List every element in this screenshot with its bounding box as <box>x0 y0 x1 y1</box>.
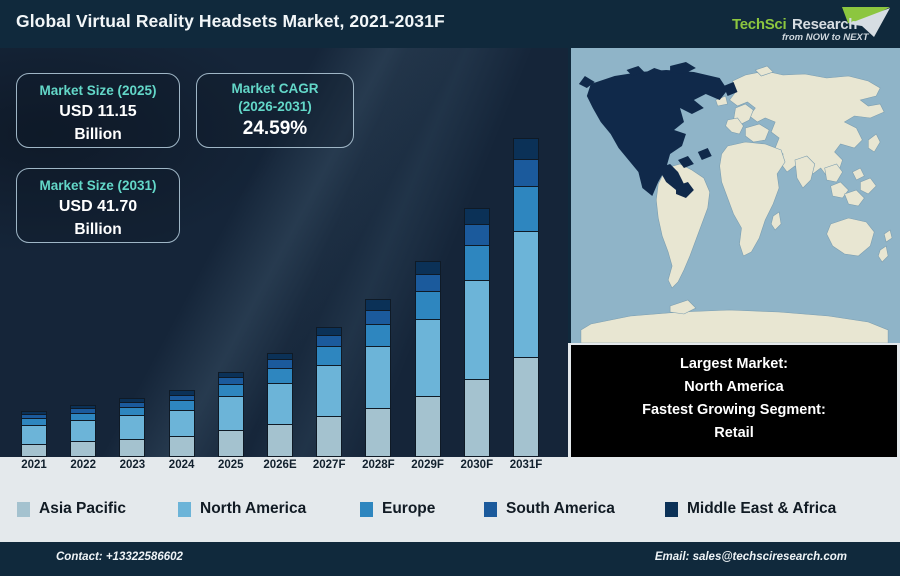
infographic-page: Global Virtual Reality Headsets Market, … <box>0 0 900 576</box>
bar-2029F <box>415 261 441 457</box>
segment-north-america-2022 <box>70 420 96 441</box>
segment-europe-2030F <box>464 245 490 281</box>
largest-market-value: North America <box>571 376 897 399</box>
segment-europe-2028F <box>365 324 391 347</box>
svg-text:TechSci: TechSci <box>732 16 786 33</box>
footer-contact[interactable]: Contact: +13322586602 <box>56 551 183 563</box>
segment-europe-2024 <box>169 400 195 410</box>
bar-2025 <box>218 372 244 457</box>
footer-bar: Contact: +13322586602 Email: sales@techs… <box>0 542 900 576</box>
x-tick-2030F: 2030F <box>453 459 501 471</box>
bar-2023 <box>119 398 145 457</box>
segment-north-america-2027F <box>316 365 342 416</box>
largest-market-label: Largest Market: <box>571 353 897 376</box>
segment-north-america-2026E <box>267 383 293 424</box>
legend-swatch-icon <box>665 502 678 517</box>
logo-icon: TechSci Research from NOW to NEXT <box>724 3 894 45</box>
page-title: Global Virtual Reality Headsets Market, … <box>16 11 445 32</box>
segment-europe-2023 <box>119 407 145 415</box>
footer-email[interactable]: Email: sales@techsciresearch.com <box>655 551 847 563</box>
segment-north-america-2030F <box>464 280 490 379</box>
segment-north-america-2025 <box>218 396 244 430</box>
segment-north-america-2029F <box>415 319 441 396</box>
bar-2030F <box>464 208 490 457</box>
x-tick-2023: 2023 <box>108 459 156 471</box>
segment-middle-east-africa-2030F <box>464 208 490 224</box>
segment-north-america-2028F <box>365 346 391 408</box>
segment-europe-2022 <box>70 413 96 420</box>
legend-label: Asia Pacific <box>39 500 126 518</box>
legend-swatch-icon <box>360 502 373 517</box>
x-tick-2022: 2022 <box>59 459 107 471</box>
techsci-research-logo[interactable]: TechSci Research from NOW to NEXT <box>724 3 894 45</box>
chart-legend: Asia PacificNorth AmericaEuropeSouth Ame… <box>0 476 900 542</box>
x-tick-2028F: 2028F <box>354 459 402 471</box>
segment-asia-pacific-2026E <box>267 424 293 457</box>
segment-middle-east-africa-2029F <box>415 261 441 274</box>
segment-north-america-2023 <box>119 415 145 439</box>
segment-asia-pacific-2030F <box>464 379 490 457</box>
segment-south-america-2030F <box>464 224 490 245</box>
legend-swatch-icon <box>178 502 191 517</box>
stacked-bar-plot <box>0 48 568 457</box>
bar-2021 <box>21 411 47 457</box>
segment-middle-east-africa-2027F <box>316 327 342 335</box>
world-map <box>568 48 900 343</box>
legend-swatch-icon <box>17 502 30 517</box>
x-tick-2021: 2021 <box>10 459 58 471</box>
world-map-svg <box>571 48 900 343</box>
legend-label: Middle East & Africa <box>687 500 836 518</box>
segment-north-america-2024 <box>169 410 195 436</box>
segment-asia-pacific-2022 <box>70 441 96 457</box>
header-bar: Global Virtual Reality Headsets Market, … <box>0 0 900 48</box>
fastest-segment-label: Fastest Growing Segment: <box>571 399 897 422</box>
legend-label: South America <box>506 500 615 518</box>
segment-asia-pacific-2021 <box>21 444 47 457</box>
segment-europe-2031F <box>513 186 539 232</box>
bar-2028F <box>365 299 391 457</box>
bar-2024 <box>169 390 195 457</box>
bar-2022 <box>70 405 96 457</box>
x-tick-2024: 2024 <box>158 459 206 471</box>
segment-north-america-2021 <box>21 425 47 445</box>
segment-south-america-2031F <box>513 159 539 186</box>
legend-item-north-america[interactable]: North America <box>178 500 306 518</box>
segment-europe-2027F <box>316 346 342 365</box>
segment-asia-pacific-2023 <box>119 439 145 457</box>
legend-swatch-icon <box>484 502 497 517</box>
legend-label: Europe <box>382 500 435 518</box>
segment-europe-2026E <box>267 368 293 383</box>
segment-south-america-2027F <box>316 335 342 346</box>
legend-item-south-america[interactable]: South America <box>484 500 615 518</box>
bar-2026E <box>267 353 293 457</box>
x-tick-2029F: 2029F <box>404 459 452 471</box>
info-panel: Largest Market: North America Fastest Gr… <box>571 345 897 457</box>
legend-item-asia-pacific[interactable]: Asia Pacific <box>17 500 126 518</box>
segment-asia-pacific-2027F <box>316 416 342 457</box>
svg-text:from NOW to NEXT: from NOW to NEXT <box>782 32 870 43</box>
bar-2027F <box>316 327 342 457</box>
x-tick-2027F: 2027F <box>305 459 353 471</box>
segment-south-america-2029F <box>415 274 441 290</box>
segment-middle-east-africa-2031F <box>513 138 539 159</box>
legend-item-middle-east-africa[interactable]: Middle East & Africa <box>665 500 836 518</box>
segment-north-america-2031F <box>513 231 539 356</box>
x-axis-labels: 202120222023202420252026E2027F2028F2029F… <box>0 457 568 476</box>
bar-2031F <box>513 138 539 457</box>
x-tick-2025: 2025 <box>207 459 255 471</box>
fastest-segment-value: Retail <box>571 422 897 445</box>
x-tick-2031F: 2031F <box>502 459 550 471</box>
chart-panel: Market Size (2025) USD 11.15 Billion Mar… <box>0 48 568 476</box>
segment-europe-2025 <box>218 384 244 396</box>
segment-asia-pacific-2031F <box>513 357 539 457</box>
segment-south-america-2026E <box>267 359 293 368</box>
legend-item-europe[interactable]: Europe <box>360 500 435 518</box>
legend-label: North America <box>200 500 306 518</box>
segment-asia-pacific-2028F <box>365 408 391 457</box>
segment-asia-pacific-2025 <box>218 430 244 457</box>
x-tick-2026E: 2026E <box>256 459 304 471</box>
segment-middle-east-africa-2028F <box>365 299 391 310</box>
svg-text:Research: Research <box>792 16 857 33</box>
segment-europe-2029F <box>415 291 441 319</box>
segment-asia-pacific-2029F <box>415 396 441 457</box>
segment-south-america-2028F <box>365 310 391 323</box>
segment-asia-pacific-2024 <box>169 436 195 457</box>
segment-south-america-2025 <box>218 377 244 384</box>
